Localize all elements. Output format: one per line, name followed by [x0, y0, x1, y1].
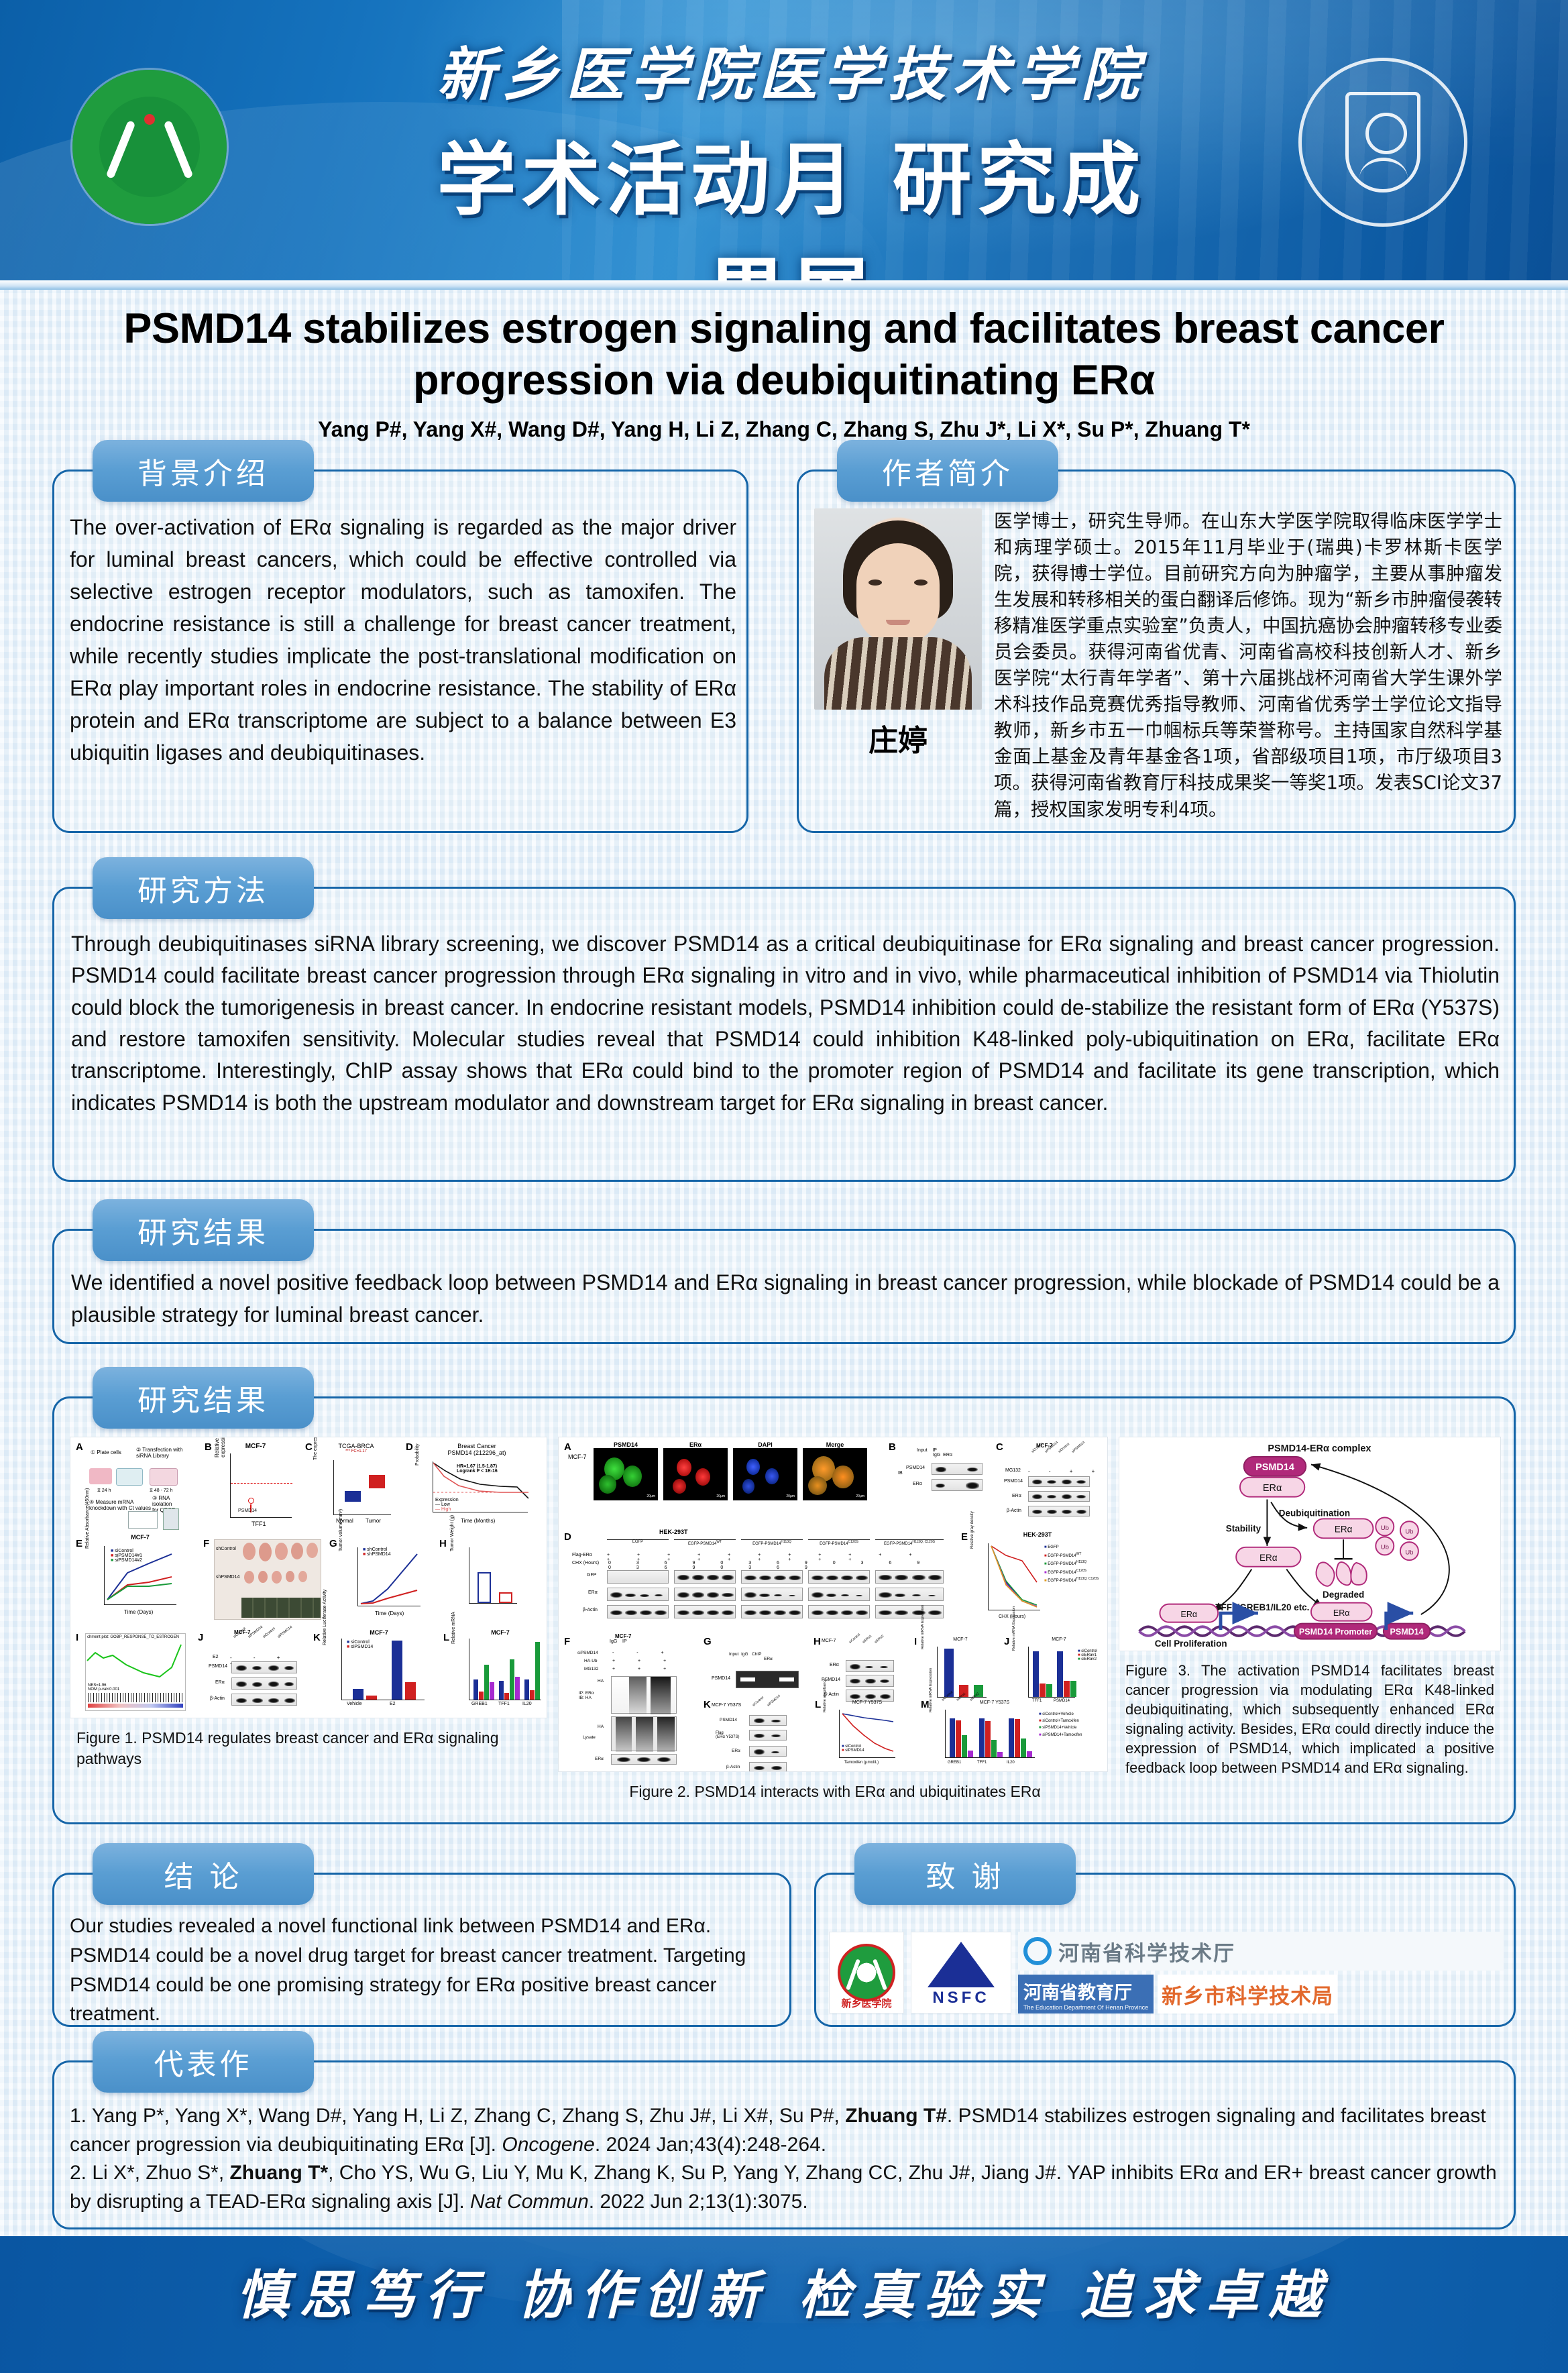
section-background: 背景介绍 The over-activation of ERα signalin… [52, 470, 748, 833]
henan-kjt-mark-icon [1023, 1937, 1052, 1965]
acknowledgement-logos: 新乡医学院 NSFC 河南省科学技术厅 河南省教育厅 The Education… [829, 1932, 1504, 2013]
results-text: We identified a novel positive feedback … [71, 1266, 1500, 1331]
svg-text:ERα: ERα [1335, 1525, 1353, 1535]
figure-3-column: PSMD14-ERα complex PSMD14 ERα Stability … [1119, 1437, 1501, 1812]
svg-text:Ub: Ub [1405, 1529, 1413, 1536]
author-bio-text: 医学博士，研究生导师。在山东大学医学院取得临床医学学士和病理学硕士。2015年1… [994, 508, 1502, 823]
svg-text:ERα: ERα [1259, 1553, 1278, 1563]
author-bio-wrap: 庄婷 医学博士，研究生导师。在山东大学医学院取得临床医学学士和病理学硕士。201… [814, 508, 1502, 823]
section-methods: 研究方法 Through deubiquitinases siRNA libra… [52, 887, 1516, 1182]
section-results-text: 研究结果 We identified a novel positive feed… [52, 1229, 1516, 1344]
henan-science-technology-dept-label: 河南省科学技术厅 [1058, 1936, 1235, 1967]
section-publications-content: 1. Yang P*, Yang X*, Wang D#, Yang H, Li… [70, 2102, 1501, 2216]
section-background-heading: 背景介绍 [93, 440, 314, 502]
figure-2-column: A MCF-7 PSMD14 20µm ERα [558, 1437, 1108, 1812]
xinxiang-science-technology-bureau-label: 新乡市科学技术局 [1162, 1979, 1333, 2009]
svg-text:ERα: ERα [1263, 1483, 1282, 1494]
conclusion-text: Our studies revealed a novel functional … [70, 1912, 778, 2029]
henan-education-dept-logo-icon: 河南省教育厅 The Education Department Of Henan… [1018, 1975, 1154, 2013]
page-title: PSMD14 stabilizes estrogen signaling and… [0, 303, 1568, 406]
figure-2-caption: Figure 2. PSMD14 interacts with ERα and … [558, 1772, 1108, 1802]
pub-2-highlight-author: Zhuang T* [229, 2162, 328, 2184]
svg-text:ERα: ERα [1180, 1610, 1197, 1619]
xinxiang-medical-university-logo-label: 新乡医学院 [830, 1996, 903, 2010]
pub-2-citation: . 2022 Jun 2;13(1):3075. [589, 2191, 808, 2213]
xinxiang-science-technology-bureau-logo-icon: 新乡市科学技术局 [1158, 1975, 1337, 2013]
bottom-banner-slogan: 慎思笃行 协作创新 检真验实 追求卓越 [0, 2254, 1568, 2329]
section-conclusion: 结 论 Our studies revealed a novel functio… [52, 1873, 791, 2027]
acknowledgement-logos-right: 河南省科学技术厅 河南省教育厅 The Education Department… [1018, 1932, 1504, 2013]
nsfc-logo-icon: NSFC [911, 1932, 1011, 2013]
svg-text:Ub: Ub [1381, 1544, 1389, 1551]
pub-1-authors: Yang P*, Yang X*, Wang D#, Yang H, Li Z,… [92, 2105, 845, 2127]
section-publications-heading: 代表作 [93, 2031, 314, 2093]
figure-3-caption: Figure 3. The activation PSMD14 facilita… [1119, 1651, 1501, 1777]
section-results-figures: 研究结果 A ① Plate cells ② Transfection with… [52, 1396, 1516, 1824]
pub-2-authors: Li X*, Zhuo S*, [92, 2162, 229, 2184]
section-conclusion-heading: 结 论 [93, 1843, 314, 1905]
section-conclusion-content: Our studies revealed a novel functional … [70, 1912, 778, 2029]
pub-2-number: 2. [70, 2162, 87, 2184]
pub-1-citation: . 2024 Jan;43(4):248-264. [595, 2134, 826, 2156]
henan-education-dept-label: 河南省教育厅 [1023, 1978, 1148, 2004]
banner-divider [0, 280, 1568, 290]
section-author-profile: 作者简介 庄婷 医学博士，研究生导师。在山东大学医学院取得临床医学学士和病理学硕… [797, 470, 1516, 833]
pub-1-number: 1. [70, 2105, 87, 2127]
poster-title-zone: PSMD14 stabilizes estrogen signaling and… [0, 303, 1568, 442]
svg-text:Stability: Stability [1226, 1524, 1262, 1534]
pub-1-highlight-author: Zhuang T# [845, 2105, 947, 2127]
section-publications: 代表作 1. Yang P*, Yang X*, Wang D#, Yang H… [52, 2060, 1516, 2229]
svg-text:PSMD14: PSMD14 [1390, 1627, 1423, 1637]
bottom-banner: 慎思笃行 协作创新 检真验实 追求卓越 [0, 2236, 1568, 2373]
author-portrait-photo [814, 508, 982, 710]
section-acknowledgement-heading: 致 谢 [854, 1843, 1076, 1905]
svg-text:ERα: ERα [1333, 1608, 1350, 1618]
figure-3-image: PSMD14-ERα complex PSMD14 ERα Stability … [1119, 1437, 1501, 1651]
figure-2-image: A MCF-7 PSMD14 20µm ERα [558, 1437, 1108, 1772]
figure-1-caption: Figure 1. PSMD14 regulates breast cancer… [70, 1718, 547, 1769]
figure-1-column: A ① Plate cells ② Transfection withsiRNA… [70, 1437, 547, 1812]
svg-text:PSMD14-ERα complex: PSMD14-ERα complex [1268, 1443, 1371, 1454]
svg-text:Ub: Ub [1381, 1525, 1389, 1532]
university-seal-icon [72, 70, 227, 224]
author-list: Yang P#, Yang X#, Wang D#, Yang H, Li Z,… [0, 417, 1568, 442]
college-seal-icon [1298, 58, 1467, 227]
svg-text:Degraded: Degraded [1323, 1590, 1364, 1600]
acknowledgement-logos-row2: 河南省教育厅 The Education Department Of Henan… [1018, 1975, 1504, 2013]
svg-text:Cell Proliferation: Cell Proliferation [1155, 1639, 1227, 1649]
banner-line-2: 学术活动月 研究成果展 [429, 115, 1154, 290]
pub-2-journal: Nat Commun [470, 2191, 589, 2213]
section-results-text-content: We identified a novel positive feedback … [71, 1266, 1500, 1331]
figure-3-pathway-diagram: PSMD14-ERα complex PSMD14 ERα Stability … [1119, 1437, 1500, 1651]
publication-item-2: 2. Li X*, Zhuo S*, Zhuang T*, Cho YS, Wu… [70, 2159, 1501, 2216]
figures-area: A ① Plate cells ② Transfection withsiRNA… [70, 1437, 1501, 1812]
nsfc-logo-label: NSFC [932, 1989, 989, 2007]
section-background-content: The over-activation of ERα signaling is … [70, 511, 736, 769]
pub-1-journal: Oncogene [502, 2134, 594, 2156]
section-acknowledgement: 致 谢 新乡医学院 NSFC 河南省科学技术厅 河南省教育厅 The Educa… [814, 1873, 1516, 2027]
svg-text:Deubiquitination: Deubiquitination [1279, 1508, 1350, 1519]
section-results-figures-heading: 研究结果 [93, 1367, 314, 1429]
background-text: The over-activation of ERα signaling is … [70, 511, 736, 769]
author-name: 庄婷 [814, 716, 982, 759]
section-methods-heading: 研究方法 [93, 857, 314, 919]
svg-text:PSMD14 Promoter: PSMD14 Promoter [1299, 1627, 1372, 1637]
svg-text:PSMD14: PSMD14 [1255, 1462, 1294, 1473]
section-results-text-heading: 研究结果 [93, 1199, 314, 1261]
banner-title-zone: 新乡医学院医学技术学院 学术活动月 研究成果展 [429, 39, 1154, 290]
methods-text: Through deubiquitinases siRNA library sc… [71, 928, 1500, 1119]
section-author-heading: 作者简介 [837, 440, 1058, 502]
top-banner: 新乡医学院医学技术学院 学术活动月 研究成果展 [0, 0, 1568, 290]
banner-line-1: 新乡医学院医学技术学院 [429, 39, 1154, 111]
xinxiang-medical-university-logo-icon: 新乡医学院 [829, 1932, 904, 2013]
section-methods-content: Through deubiquitinases siRNA library sc… [71, 928, 1500, 1119]
figure-1-image: A ① Plate cells ② Transfection withsiRNA… [70, 1437, 547, 1718]
publication-item-1: 1. Yang P*, Yang X*, Wang D#, Yang H, Li… [70, 2102, 1501, 2159]
svg-text:TFF2/GREB1/IL20 etc.: TFF2/GREB1/IL20 etc. [1215, 1602, 1309, 1612]
henan-science-technology-dept-logo-icon: 河南省科学技术厅 [1018, 1932, 1504, 1971]
svg-text:Ub: Ub [1405, 1549, 1413, 1556]
henan-education-dept-sublabel: The Education Department Of Henan Provin… [1023, 2004, 1148, 2011]
